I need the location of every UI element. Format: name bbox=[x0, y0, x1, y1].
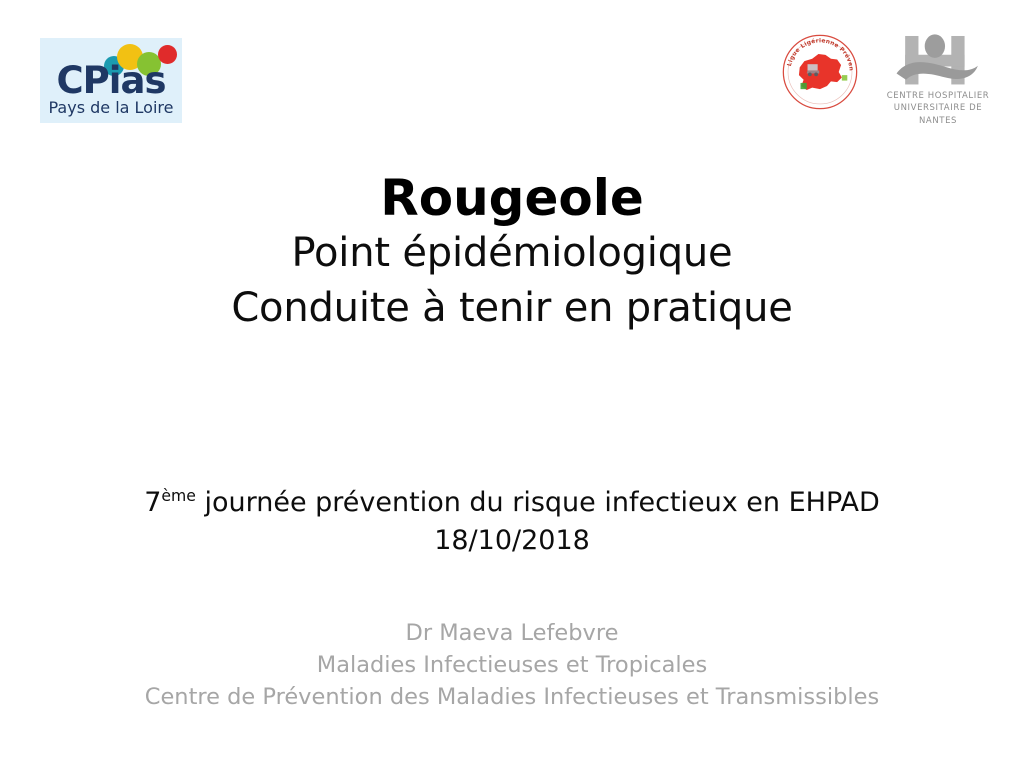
event-title: 7ème journée prévention du risque infect… bbox=[0, 484, 1024, 522]
event-ordinal-number: 7 bbox=[144, 487, 161, 518]
slide-title-block: Rougeole Point épidémiologique Conduite … bbox=[0, 170, 1024, 336]
chu-nantes-caption: CENTRE HOSPITALIER UNIVERSITAIRE DE NANT… bbox=[879, 90, 997, 127]
presentation-slide: CPias Pays de la Loire Ligue Ligérienne … bbox=[0, 0, 1024, 768]
chu-nantes-logo: CENTRE HOSPITALIER UNIVERSITAIRE DE NANT… bbox=[879, 32, 997, 128]
event-title-rest: journée prévention du risque infectieux … bbox=[196, 487, 880, 518]
chu-nantes-mark-icon bbox=[895, 32, 981, 90]
author-department: Maladies Infectieuses et Tropicales bbox=[0, 649, 1024, 681]
author-block: Dr Maeva Lefebvre Maladies Infectieuses … bbox=[0, 617, 1024, 714]
slide-title: Rougeole bbox=[0, 170, 1024, 226]
event-block: 7ème journée prévention du risque infect… bbox=[0, 484, 1024, 561]
chu-nantes-caption-line2: UNIVERSITAIRE DE NANTES bbox=[879, 102, 997, 127]
cpias-wordmark: CPias bbox=[40, 62, 182, 99]
event-date: 18/10/2018 bbox=[0, 522, 1024, 560]
slide-subtitle-2: Conduite à tenir en pratique bbox=[0, 281, 1024, 336]
event-ordinal-suffix: ème bbox=[161, 486, 196, 505]
cpias-logo: CPias Pays de la Loire bbox=[40, 38, 182, 123]
cpias-subtitle: Pays de la Loire bbox=[40, 100, 182, 116]
chu-nantes-caption-line1: CENTRE HOSPITALIER bbox=[879, 90, 997, 102]
author-name: Dr Maeva Lefebvre bbox=[0, 617, 1024, 649]
author-center: Centre de Prévention des Maladies Infect… bbox=[0, 681, 1024, 713]
partner-logos: Ligue Ligérienne Prévention Nosocomiale bbox=[781, 30, 996, 128]
slide-subtitle-1: Point épidémiologique bbox=[0, 226, 1024, 281]
region-prevention-logo: Ligue Ligérienne Prévention Nosocomiale bbox=[781, 33, 859, 111]
